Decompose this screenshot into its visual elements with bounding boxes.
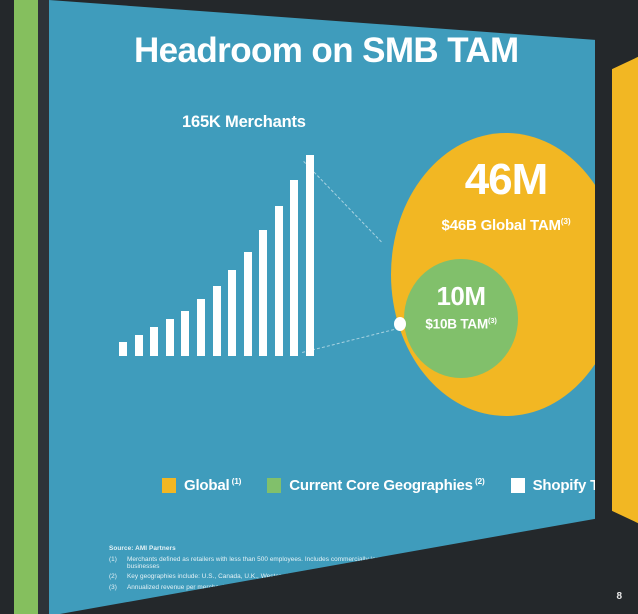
legend-item-label: Current Core Geographies (2)	[289, 476, 484, 494]
footnote-item: (3)Annualized revenue per merchant of ap…	[109, 584, 539, 591]
footnote-source: Source: AMI Partners	[109, 545, 539, 552]
bar-chart-bar	[259, 230, 267, 356]
legend-item-label: Global (1)	[184, 476, 241, 494]
footnote-text: Key geographies include: U.S., Canada, U…	[127, 573, 539, 580]
footnotes-block: Source: AMI Partners (1)Merchants define…	[109, 545, 539, 594]
bar-chart-bar	[119, 342, 127, 356]
page-title: Headroom on SMB TAM	[134, 31, 519, 71]
bar-chart-bar	[150, 327, 158, 356]
bar-chart-bar	[197, 299, 205, 356]
bubble-current-core-geographies: 10M $10B TAM(3)	[404, 259, 518, 378]
bubble-global-caption: $46B Global TAM(3)	[391, 217, 621, 233]
footnote-marker: (1)	[109, 556, 121, 570]
bar-chart-annotation: 165K Merchants	[182, 113, 306, 132]
footnote-text: Annualized revenue per merchant of appro…	[127, 584, 539, 591]
bar-chart	[119, 148, 314, 356]
bar-chart-bar	[275, 206, 283, 356]
footnote-marker: (3)	[109, 584, 121, 591]
legend-item[interactable]: Global (1)	[162, 476, 241, 494]
slide-content-panel: Headroom on SMB TAM 165K Merchants 46M $…	[49, 0, 595, 614]
footnote-item: (2)Key geographies include: U.S., Canada…	[109, 573, 539, 580]
bar-chart-bar	[244, 252, 252, 356]
bubble-global-caption-text: $46B Global TAM	[442, 217, 561, 234]
legend-footnote-marker: (1)	[229, 476, 241, 486]
connector-line-top	[303, 161, 382, 242]
footnote-text: Merchants defined as retailers with less…	[127, 556, 539, 570]
legend-swatch-icon	[267, 478, 281, 493]
legend-footnote-marker: (2)	[473, 476, 485, 486]
bubble-core-footnote-marker: (3)	[488, 316, 497, 325]
chart-legend: Global (1)Current Core Geographies (2)Sh…	[162, 476, 632, 494]
page-number: 8	[616, 591, 622, 602]
legend-swatch-icon	[162, 478, 176, 493]
bar-chart-bar	[135, 335, 143, 356]
bubble-core-value: 10M	[404, 283, 518, 309]
slide-canvas: Headroom on SMB TAM 165K Merchants 46M $…	[0, 0, 638, 614]
legend-swatch-icon	[511, 478, 525, 493]
bubble-shopify-today-dot	[394, 317, 406, 331]
bar-chart-bar	[228, 270, 236, 356]
bar-chart-bar	[290, 180, 298, 356]
bar-chart-bar	[166, 319, 174, 356]
bar-chart-bar	[306, 155, 314, 356]
right-yellow-accent-strip	[612, 55, 638, 525]
bar-chart-bar	[181, 311, 189, 356]
bubble-global-value: 46M	[391, 158, 621, 202]
footnote-marker: (2)	[109, 573, 121, 580]
connector-line-bottom	[302, 325, 409, 353]
left-green-accent-strip	[14, 0, 38, 614]
left-dark-accent-strip	[38, 0, 49, 614]
bubble-core-caption: $10B TAM(3)	[404, 317, 518, 331]
bubble-global-footnote-marker: (3)	[561, 216, 571, 226]
legend-item[interactable]: Current Core Geographies (2)	[267, 476, 484, 494]
bar-chart-bar	[213, 286, 221, 356]
footnote-item: (1)Merchants defined as retailers with l…	[109, 556, 539, 570]
bubble-core-caption-text: $10B TAM	[425, 317, 488, 332]
footnote-list: (1)Merchants defined as retailers with l…	[109, 556, 539, 591]
